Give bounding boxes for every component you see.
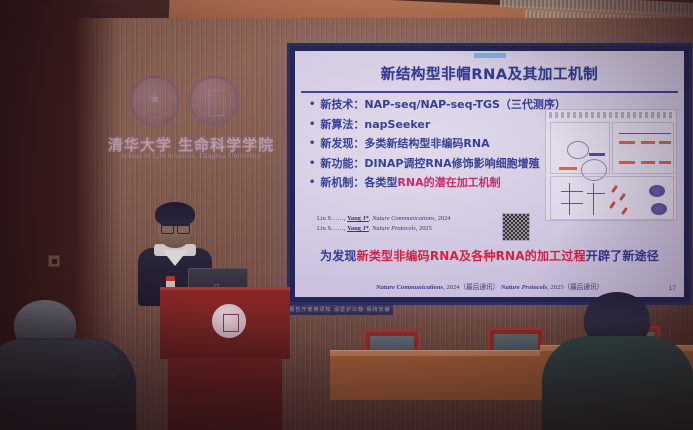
- citation-line: Liu S……, Yang J*, Nature Communications,…: [317, 214, 532, 224]
- slide-title: 新结构型非帽RNA及其加工机制: [305, 63, 674, 84]
- figure-panel: [612, 122, 674, 174]
- figure-panel: [550, 176, 674, 220]
- bullet-text: 新机制：各类型RNA的潜在加工机制: [320, 177, 500, 189]
- presenter-hair: [155, 202, 195, 226]
- bullet-text: 新功能：DINAP调控RNA修饰影响细胞增殖: [320, 158, 539, 170]
- bullet-dot: •: [309, 119, 315, 131]
- presentation-slide: 新结构型非帽RNA及其加工机制 • 新技术：NAP-seq/NAP-seq-TG…: [295, 51, 684, 297]
- figure-rod: [621, 207, 628, 215]
- bullet-item: • 新技术：NAP-seq/NAP-seq-TGS（三代测序）: [309, 99, 541, 111]
- figure-cloud: [649, 185, 665, 197]
- figure-blob: [567, 141, 589, 159]
- slide-footer: Nature Communications, 2024（最后通讯） Nature…: [307, 281, 672, 291]
- school-name-english: School of Life Sciences, Tsinghua Univer…: [96, 152, 286, 160]
- figure-bar: [619, 161, 635, 164]
- figure-bar: [559, 167, 577, 170]
- citation-line: Liu S……, Yang J*, Nature Protocols, 2025: [317, 224, 532, 234]
- bullet-dot: •: [309, 177, 315, 189]
- wall-outlet: [48, 255, 60, 267]
- slide-bullet-list: • 新技术：NAP-seq/NAP-seq-TGS（三代测序） • 新算法：na…: [309, 99, 541, 197]
- figure-bar: [641, 141, 655, 144]
- figure-rod: [619, 193, 626, 201]
- figure-bar: [659, 141, 671, 144]
- projection-screen: 新结构型非帽RNA及其加工机制 • 新技术：NAP-seq/NAP-seq-TG…: [287, 43, 692, 305]
- figure-bar: [659, 161, 671, 164]
- figure-line: [561, 191, 583, 192]
- screen-surface: 新结构型非帽RNA及其加工机制 • 新技术：NAP-seq/NAP-seq-TG…: [295, 51, 684, 297]
- figure-rod: [611, 185, 618, 193]
- figure-caption-text: [549, 112, 673, 118]
- life-sciences-seal-icon: [189, 76, 239, 126]
- title-divider: [301, 91, 678, 93]
- figure-rod: [609, 201, 616, 209]
- bullet-text: 新发现：多类新结构型非编码RNA: [320, 138, 489, 150]
- figure-line: [569, 183, 570, 215]
- bullet-item: • 新功能：DINAP调控RNA修饰影响细胞增殖: [309, 158, 541, 170]
- figure-bar: [619, 141, 635, 144]
- bullet-text: 新算法：napSeeker: [320, 119, 430, 131]
- figure-bar: [641, 161, 655, 164]
- bullet-dot: •: [309, 99, 315, 111]
- slide-page-number: 17: [669, 285, 676, 292]
- slide-figure: [545, 109, 677, 221]
- bullet-item: • 新机制：各类型RNA的潜在加工机制: [309, 177, 541, 189]
- glasses-icon: [161, 224, 190, 232]
- figure-line: [561, 203, 583, 204]
- figure-bar: [589, 153, 605, 156]
- title-tab-decoration: [474, 53, 506, 58]
- figure-line: [593, 183, 594, 215]
- figure-line: [587, 193, 605, 194]
- qr-code-icon: [502, 213, 530, 241]
- bullet-item: • 新算法：napSeeker: [309, 119, 541, 131]
- figure-panel: [550, 122, 610, 174]
- bullet-dot: •: [309, 138, 315, 150]
- figure-cloud: [651, 203, 667, 215]
- slide-title-band: 新结构型非帽RNA及其加工机制: [305, 57, 674, 91]
- bullet-dot: •: [309, 158, 315, 170]
- school-wall-sign: 清华大学 生命科学学院 School of Life Sciences, Tsi…: [96, 74, 286, 166]
- slide-citations: Liu S……, Yang J*, Nature Communications,…: [317, 214, 532, 234]
- figure-line: [619, 133, 671, 134]
- floor-shadow: [0, 310, 693, 430]
- bullet-text: 新技术：NAP-seq/NAP-seq-TGS（三代测序）: [320, 99, 566, 111]
- slide-conclusion: 为发现新类型非编码RNA及各种RNA的加工过程开辟了新途径: [307, 247, 672, 264]
- bullet-item: • 新发现：多类新结构型非编码RNA: [309, 138, 541, 150]
- lecture-hall-photo: 清华大学 生命科学学院 School of Life Sciences, Tsi…: [0, 0, 693, 430]
- tsinghua-seal-icon: [130, 76, 180, 126]
